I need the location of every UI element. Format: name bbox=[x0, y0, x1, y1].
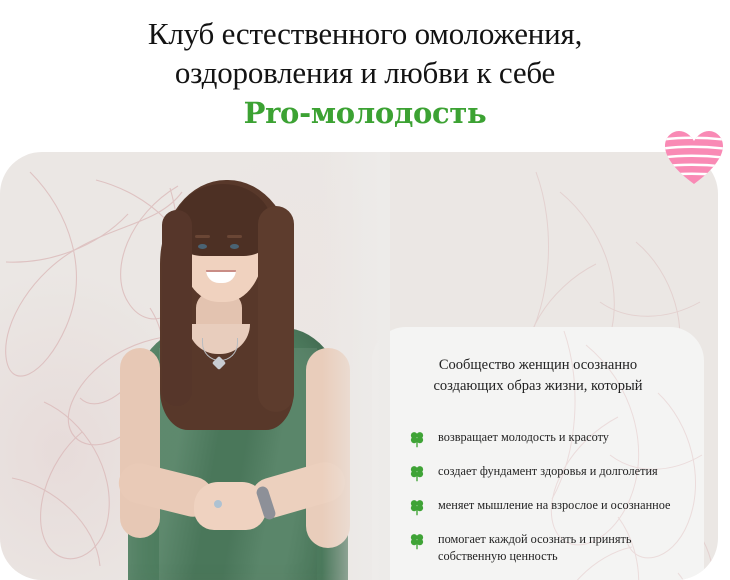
page-title-line-2: оздоровления и любви к себе bbox=[0, 53, 730, 92]
list-item-text: возвращает молодость и красоту bbox=[438, 429, 609, 446]
photo-eyebrow-left bbox=[195, 235, 210, 238]
clover-icon bbox=[408, 498, 426, 516]
list-item-text: меняет мышление на взрослое и осознанное bbox=[438, 497, 671, 514]
photo-hair-right bbox=[258, 206, 294, 412]
card-heading: Сообщество женщин осознанно создающих об… bbox=[396, 355, 680, 397]
photo-ring bbox=[214, 500, 222, 508]
photo-shoulder-left bbox=[120, 348, 160, 538]
clover-icon bbox=[408, 532, 426, 550]
photo-edge-fade bbox=[322, 152, 390, 580]
list-item: помогает каждой осознать и принять собст… bbox=[408, 531, 680, 565]
page-title: Клуб естественного омоложения, оздоровле… bbox=[0, 0, 730, 132]
clover-icon bbox=[408, 464, 426, 482]
brand-name: Pro-молодость bbox=[0, 94, 730, 132]
card-heading-line-2: создающих образ жизни, который bbox=[396, 376, 680, 397]
list-item-text: помогает каждой осознать и принять собст… bbox=[438, 531, 632, 565]
list-item: возвращает молодость и красоту bbox=[408, 429, 680, 448]
card-heading-line-1: Сообщество женщин осознанно bbox=[396, 355, 680, 376]
list-item-line-1: помогает каждой осознать и принять bbox=[438, 531, 632, 548]
photo-eye-right bbox=[230, 244, 239, 249]
benefits-list: возвращает молодость и красоту bbox=[396, 429, 680, 580]
photo-hair-left bbox=[162, 210, 192, 406]
photo-hands bbox=[194, 482, 266, 530]
list-item-line-1: создает фундамент здоровья и долголетия bbox=[438, 463, 658, 480]
hero-panel: Сообщество женщин осознанно создающих об… bbox=[0, 152, 718, 580]
list-item: создает фундамент здоровья и долголетия bbox=[408, 463, 680, 482]
clover-icon bbox=[408, 430, 426, 448]
hero-photo bbox=[110, 152, 390, 580]
list-item-line-1: возвращает молодость и красоту bbox=[438, 429, 609, 446]
photo-eye-left bbox=[198, 244, 207, 249]
list-item-text: создает фундамент здоровья и долголетия bbox=[438, 463, 658, 480]
list-item: меняет мышление на взрослое и осознанное bbox=[408, 497, 680, 516]
benefits-card: Сообщество женщин осознанно создающих об… bbox=[372, 327, 704, 580]
page-title-line-1: Клуб естественного омоложения, bbox=[0, 14, 730, 53]
photo-eyebrow-right bbox=[227, 235, 242, 238]
list-item-line-1: меняет мышление на взрослое и осознанное bbox=[438, 497, 671, 514]
list-item-line-2: собственную ценность bbox=[438, 548, 632, 565]
striped-heart-logo bbox=[664, 130, 724, 186]
